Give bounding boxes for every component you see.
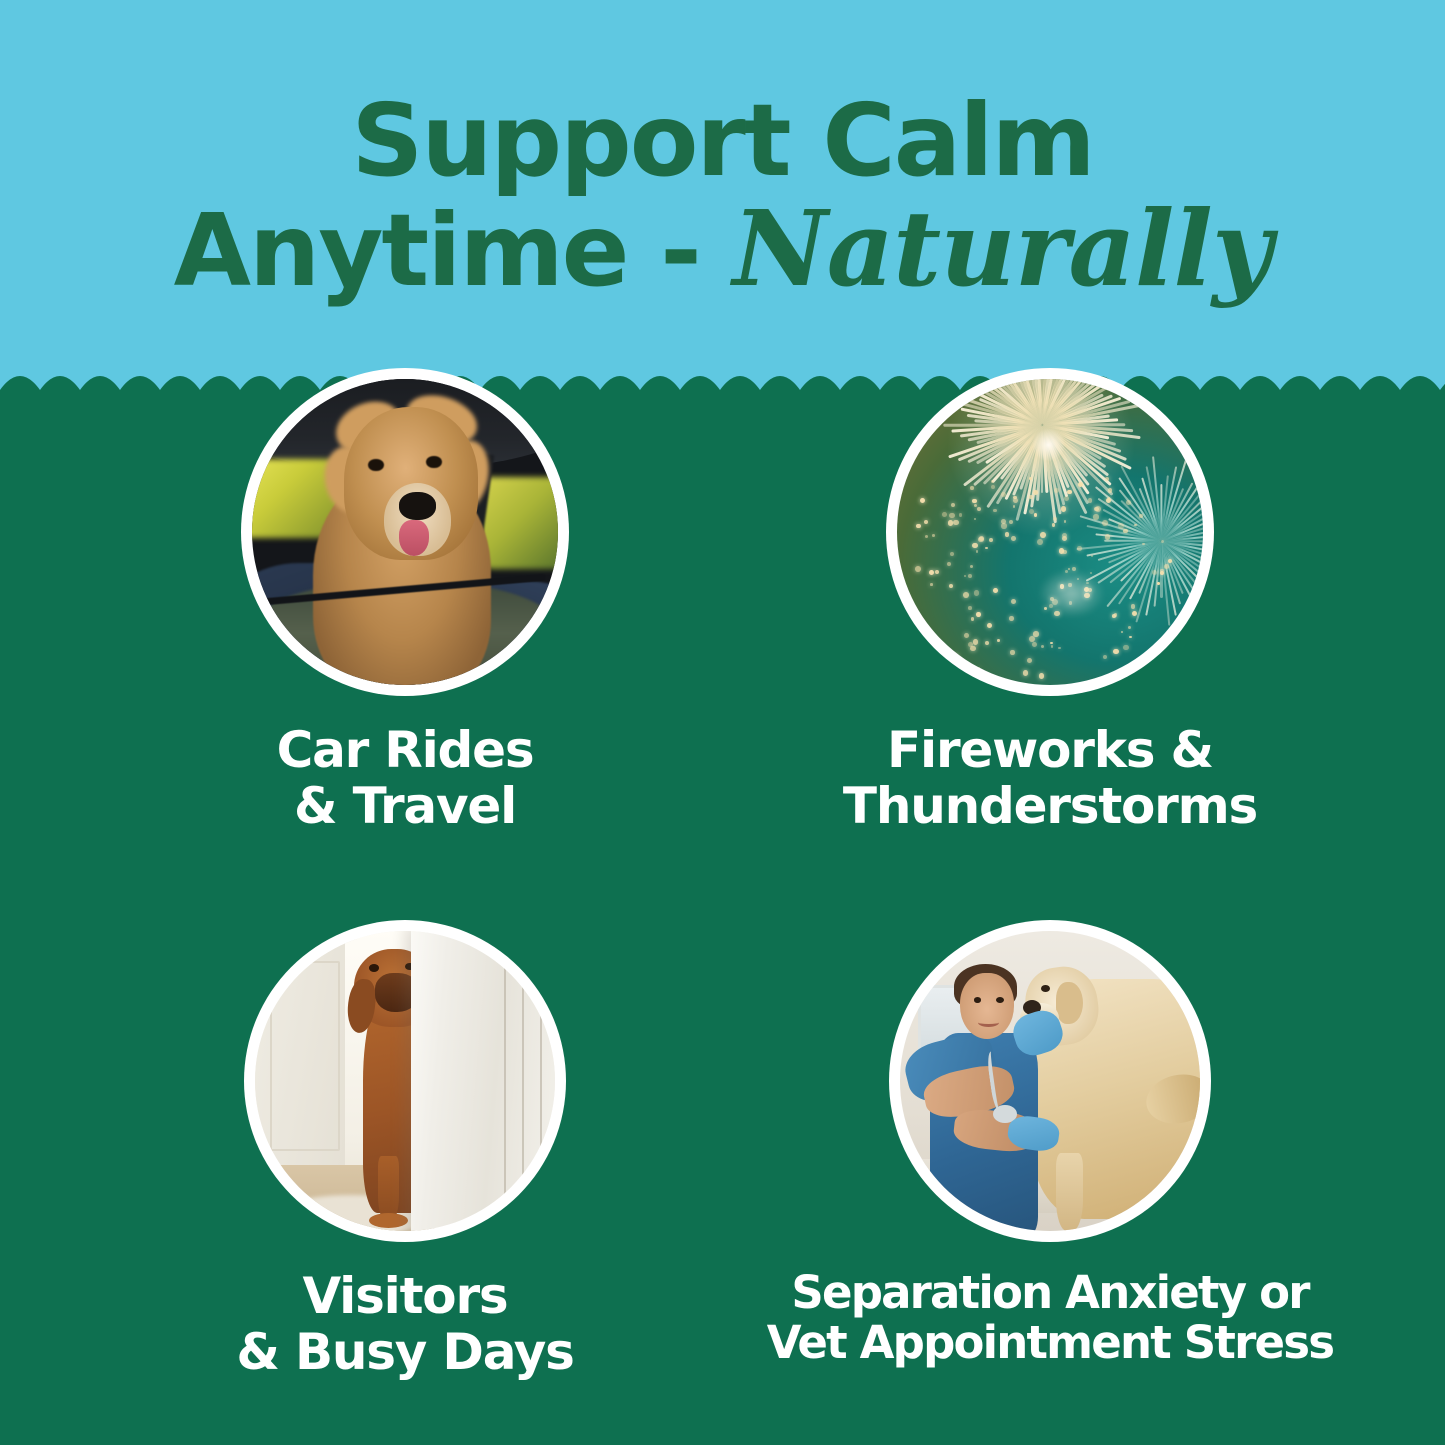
vet-smile (978, 1018, 999, 1027)
photo-ring (244, 920, 566, 1242)
dog-nose (399, 492, 436, 520)
page-title: Support Calm Anytime - Naturally (0, 88, 1445, 304)
headline-line-2-prefix: Anytime - (174, 192, 733, 309)
use-case-card-vet-stress: Separation Anxiety or Vet Appointment St… (705, 920, 1395, 1369)
caption-line: Car Rides (60, 722, 750, 778)
caption-line: Thunderstorms (705, 778, 1395, 834)
spark-dots (897, 379, 1203, 685)
caption-line: Separation Anxiety or (705, 1268, 1395, 1318)
use-case-card-fireworks: Fireworks & Thunderstorms (705, 368, 1395, 834)
wall-panel (270, 961, 340, 1151)
photo-ring (241, 368, 569, 696)
photo-ring (886, 368, 1214, 696)
card-caption: Visitors & Busy Days (60, 1268, 750, 1380)
white-door (411, 931, 555, 1231)
headline-line-1: Support Calm (0, 88, 1445, 194)
dog-ear (1056, 982, 1083, 1024)
caption-line: Fireworks & (705, 722, 1395, 778)
photo-ring (889, 920, 1211, 1242)
headline-script-word: Naturally (733, 187, 1272, 310)
dog-eye-right (426, 456, 441, 468)
dog-paw (369, 1213, 408, 1228)
door-groove (540, 931, 542, 1231)
use-case-card-visitors: Visitors & Busy Days (60, 920, 750, 1380)
fireworks-photo (897, 379, 1203, 685)
dog-at-door-photo (255, 931, 555, 1231)
smoke-puff (1038, 569, 1105, 618)
card-caption: Separation Anxiety or Vet Appointment St… (705, 1268, 1395, 1369)
caption-line: Vet Appointment Stress (705, 1318, 1395, 1368)
vet-head (960, 973, 1014, 1039)
caption-line: & Busy Days (60, 1324, 750, 1380)
use-case-grid: Car Rides & Travel Fireworks & Thunderst… (0, 368, 1445, 1445)
caption-line: Visitors (60, 1268, 750, 1324)
promo-poster: Support Calm Anytime - Naturally (0, 0, 1445, 1445)
vet-eye-right (996, 997, 1004, 1003)
card-caption: Car Rides & Travel (60, 722, 750, 834)
use-case-card-car-rides: Car Rides & Travel (60, 368, 750, 834)
dog-eye-left (368, 459, 383, 471)
headline-line-2: Anytime - Naturally (0, 194, 1445, 304)
dog-eye-left (369, 964, 379, 972)
card-caption: Fireworks & Thunderstorms (705, 722, 1395, 834)
dog-leg (1056, 1153, 1083, 1231)
door-groove (504, 931, 506, 1231)
door-groove (522, 931, 524, 1231)
caption-line: & Travel (60, 778, 750, 834)
car-ride-dog-photo (252, 379, 558, 685)
vet-exam-photo (900, 931, 1200, 1231)
